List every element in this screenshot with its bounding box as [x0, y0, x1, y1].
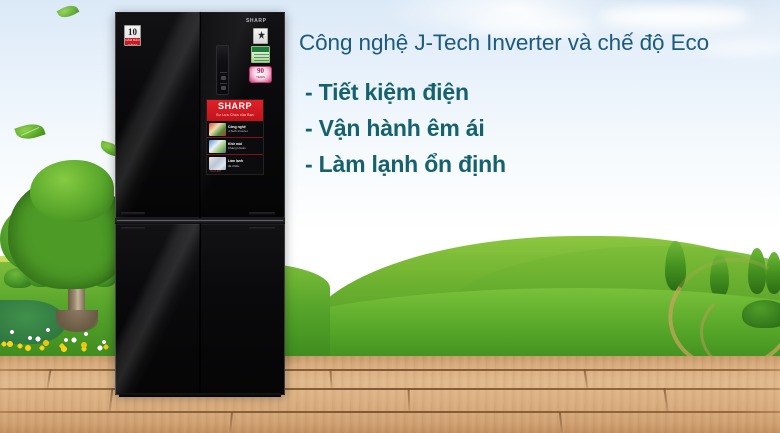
anniversary-sub: YEARS [250, 76, 271, 80]
door-bottom-left[interactable] [115, 224, 200, 395]
benefit-item-3: - Làm lạnh ổn định [305, 146, 725, 182]
control-panel-line-2 [220, 83, 227, 84]
feature-text: Làm lạnh đa chiều [228, 159, 261, 168]
sharp-brand-logo: SHARP [246, 18, 267, 24]
anniversary-number: 90 [250, 67, 271, 76]
feature-label-header: SHARP Sự Lựa Chọn của Bạn [207, 100, 263, 121]
warranty-badge-bar: NĂM BẢO HÀNH [125, 38, 140, 46]
feature-row-sub: Kháng khuẩn [228, 146, 261, 150]
tree-crown-top [30, 160, 114, 222]
sharp-feature-label: SHARP Sự Lựa Chọn của Bạn Công nghệ J-Te… [206, 99, 264, 175]
feature-label-title: SHARP [207, 101, 263, 112]
feature-thumbnail-icon [209, 123, 226, 136]
feature-label-subtitle: Sự Lựa Chọn của Bạn [207, 112, 263, 118]
benefit-list: - Tiết kiệm điện - Vận hành êm ái - Làm … [305, 74, 725, 182]
feature-text: Công nghệ J-Tech Inverter [228, 125, 261, 134]
control-panel-button-1[interactable] [221, 76, 226, 80]
plank-line-3 [0, 411, 780, 413]
control-panel-button-2[interactable] [221, 86, 226, 90]
wildflowers-lower [0, 336, 120, 354]
fridge-edge-highlight-right [284, 13, 285, 394]
award-sticker [253, 28, 268, 44]
handle-top-left[interactable] [121, 212, 145, 215]
cloud-1 [600, 4, 750, 30]
award-star-icon [258, 31, 265, 39]
page-title: Công nghệ J-Tech Inverter và chế độ Eco [299, 28, 709, 58]
handle-top-right[interactable] [249, 212, 275, 215]
door-gap-vertical-bottom [199, 224, 201, 395]
benefit-item-1: - Tiết kiệm điện [305, 74, 725, 110]
door-gap-vertical-top [199, 12, 201, 218]
benefit-item-2: - Vận hành êm ái [305, 110, 725, 146]
feature-row-sub: J-Tech Inverter [228, 129, 261, 133]
fridge-base [119, 393, 281, 397]
control-panel-line-1 [220, 72, 227, 73]
energy-label-header [252, 47, 269, 52]
warranty-badge-number: 10 [125, 26, 140, 38]
feature-row-sub: đa chiều [228, 164, 261, 168]
promo-banner: SHARP 10 NĂM BẢO HÀNH MÁY NÉN 90 YEARS S… [0, 0, 780, 433]
fridge-mid-divider-highlight [117, 220, 283, 221]
energy-label-sticker [251, 46, 270, 63]
feature-thumbnail-icon [209, 140, 226, 153]
feature-row: Công nghệ J-Tech Inverter [207, 121, 263, 138]
leaf-vein [21, 127, 40, 136]
warranty-badge: 10 NĂM BẢO HÀNH MÁY NÉN [124, 25, 141, 46]
handle-bottom-right[interactable] [249, 227, 275, 230]
feature-label-footer: SHARP [210, 169, 221, 173]
fridge-edge-highlight-left [115, 13, 116, 394]
door-bottom-right[interactable] [200, 224, 285, 395]
handle-bottom-left[interactable] [121, 227, 145, 230]
feature-text: Khử mùi Kháng khuẩn [228, 142, 261, 151]
cloud-3 [700, 40, 780, 56]
bush-right [742, 300, 780, 328]
control-panel[interactable] [216, 45, 229, 95]
fridge-mid-divider [115, 218, 285, 224]
anniversary-sticker: 90 YEARS [249, 66, 272, 83]
feature-row: Khử mùi Kháng khuẩn [207, 138, 263, 155]
energy-label-bars [254, 54, 269, 62]
